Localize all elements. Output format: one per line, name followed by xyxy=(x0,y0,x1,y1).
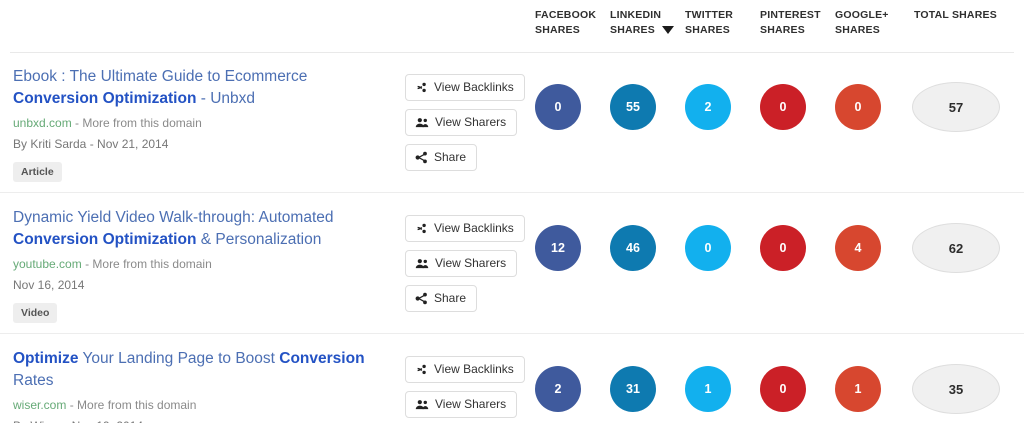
title-keyword: Conversion Optimization xyxy=(13,231,196,248)
column-header-line1: TOTAL SHARES xyxy=(914,8,1020,23)
metric-cell-googleplus: 1 xyxy=(835,366,910,412)
share-button-label: Share xyxy=(434,150,466,165)
users-icon xyxy=(415,257,429,270)
share-nodes-icon xyxy=(415,292,428,305)
metric-cell-total: 57 xyxy=(910,82,1020,132)
users-icon xyxy=(415,257,429,270)
result-actions: View BacklinksView SharersShare xyxy=(405,207,535,312)
share-count-pinterest[interactable]: 0 xyxy=(760,225,806,271)
badge-wrapper: Video xyxy=(13,294,393,323)
column-header-googleplus[interactable]: GOOGLE+SHARES xyxy=(835,8,910,38)
share-count-facebook[interactable]: 12 xyxy=(535,225,581,271)
chain-link-icon xyxy=(415,363,428,376)
view-sharers-button[interactable]: View Sharers xyxy=(405,109,517,136)
share-button[interactable]: Share xyxy=(405,285,477,312)
result-byline: Nov 16, 2014 xyxy=(13,276,393,294)
metric-cell-facebook: 0 xyxy=(535,84,610,130)
column-header-twitter[interactable]: TWITTERSHARES xyxy=(685,8,760,38)
view-sharers-button[interactable]: View Sharers xyxy=(405,391,517,418)
domain-link[interactable]: youtube.com xyxy=(13,257,82,271)
users-icon xyxy=(415,398,429,411)
view-sharers-button-label: View Sharers xyxy=(435,115,506,130)
view-backlinks-button[interactable]: View Backlinks xyxy=(405,74,525,101)
more-from-domain-link[interactable]: - More from this domain xyxy=(85,257,212,271)
result-byline: By Wiser - Nov 19, 2014 xyxy=(13,417,393,423)
share-count-linkedin[interactable]: 31 xyxy=(610,366,656,412)
result-info: Ebook : The Ultimate Guide to Ecommerce … xyxy=(0,66,405,182)
metric-cell-pinterest: 0 xyxy=(760,84,835,130)
column-header-facebook[interactable]: FACEBOOKSHARES xyxy=(535,8,610,38)
column-header-line2: SHARES xyxy=(610,23,685,38)
metric-cell-pinterest: 0 xyxy=(760,225,835,271)
column-header-line1: LINKEDIN xyxy=(610,8,685,23)
result-row: Dynamic Yield Video Walk-through: Automa… xyxy=(0,193,1024,334)
result-row: Optimize Your Landing Page to Boost Conv… xyxy=(0,334,1024,423)
metric-cell-linkedin: 55 xyxy=(610,84,685,130)
metric-column-headers: FACEBOOKSHARESLINKEDINSHARESTWITTERSHARE… xyxy=(535,8,1024,38)
share-count-pinterest[interactable]: 0 xyxy=(760,84,806,130)
more-from-domain-link[interactable]: - More from this domain xyxy=(75,116,202,130)
title-text: Your Landing Page to Boost xyxy=(78,350,279,367)
metric-cell-googleplus: 4 xyxy=(835,225,910,271)
share-count-googleplus[interactable]: 4 xyxy=(835,225,881,271)
view-sharers-button[interactable]: View Sharers xyxy=(405,250,517,277)
view-sharers-button-label: View Sharers xyxy=(435,256,506,271)
domain-link[interactable]: wiser.com xyxy=(13,398,66,412)
result-metrics: 23110135 xyxy=(535,348,1024,414)
column-header-line1: GOOGLE+ xyxy=(835,8,910,23)
metric-cell-total: 35 xyxy=(910,364,1020,414)
users-icon xyxy=(415,116,429,129)
column-header-pinterest[interactable]: PINTERESTSHARES xyxy=(760,8,835,38)
share-button-label: Share xyxy=(434,291,466,306)
title-keyword: Optimize xyxy=(13,350,78,367)
metric-cell-facebook: 12 xyxy=(535,225,610,271)
result-metrics: 124600462 xyxy=(535,207,1024,273)
result-title-link[interactable]: Optimize Your Landing Page to Boost Conv… xyxy=(13,348,393,392)
content-type-badge: Article xyxy=(13,162,62,182)
result-metrics: 05520057 xyxy=(535,66,1024,132)
results-list: Ebook : The Ultimate Guide to Ecommerce … xyxy=(0,52,1024,423)
chain-link-icon xyxy=(415,81,428,94)
title-keyword: Conversion Optimization xyxy=(13,90,196,107)
share-count-twitter[interactable]: 0 xyxy=(685,225,731,271)
column-header-line2: SHARES xyxy=(685,23,760,38)
table-header: FACEBOOKSHARESLINKEDINSHARESTWITTERSHARE… xyxy=(0,0,1024,52)
share-count-facebook[interactable]: 0 xyxy=(535,84,581,130)
chain-link-icon xyxy=(415,363,428,376)
metric-cell-total: 62 xyxy=(910,223,1020,273)
result-domain-line: youtube.com - More from this domain xyxy=(13,255,393,273)
metric-cell-linkedin: 46 xyxy=(610,225,685,271)
column-header-linkedin[interactable]: LINKEDINSHARES xyxy=(610,8,685,38)
title-text: & Personalization xyxy=(196,231,321,248)
column-header-line1: FACEBOOK xyxy=(535,8,610,23)
result-info: Dynamic Yield Video Walk-through: Automa… xyxy=(0,207,405,323)
title-text: Rates xyxy=(13,372,54,389)
result-title-link[interactable]: Dynamic Yield Video Walk-through: Automa… xyxy=(13,207,393,251)
users-icon xyxy=(415,398,429,411)
title-text: Dynamic Yield Video Walk-through: Automa… xyxy=(13,209,334,226)
caret-down-icon[interactable] xyxy=(662,26,674,34)
view-backlinks-button[interactable]: View Backlinks xyxy=(405,215,525,242)
users-icon xyxy=(415,116,429,129)
chain-link-icon xyxy=(415,222,428,235)
share-nodes-icon xyxy=(415,151,428,164)
share-count-linkedin[interactable]: 55 xyxy=(610,84,656,130)
view-backlinks-button-label: View Backlinks xyxy=(434,221,514,236)
share-count-total: 35 xyxy=(912,364,1000,414)
view-backlinks-button-label: View Backlinks xyxy=(434,362,514,377)
column-header-line1: TWITTER xyxy=(685,8,760,23)
view-sharers-button-label: View Sharers xyxy=(435,397,506,412)
column-header-line1: PINTEREST xyxy=(760,8,835,23)
view-backlinks-button-label: View Backlinks xyxy=(434,80,514,95)
chain-link-icon xyxy=(415,222,428,235)
result-domain-line: wiser.com - More from this domain xyxy=(13,396,393,414)
share-nodes-icon xyxy=(415,151,428,164)
metric-cell-facebook: 2 xyxy=(535,366,610,412)
share-count-total: 62 xyxy=(912,223,1000,273)
column-header-line2: SHARES xyxy=(760,23,835,38)
share-count-pinterest[interactable]: 0 xyxy=(760,366,806,412)
result-domain-line: unbxd.com - More from this domain xyxy=(13,114,393,132)
content-type-badge: Video xyxy=(13,303,57,323)
share-count-twitter[interactable]: 2 xyxy=(685,84,731,130)
metric-cell-twitter: 2 xyxy=(685,84,760,130)
view-backlinks-button[interactable]: View Backlinks xyxy=(405,356,525,383)
metric-cell-twitter: 1 xyxy=(685,366,760,412)
metric-cell-twitter: 0 xyxy=(685,225,760,271)
column-header-line2: SHARES xyxy=(535,23,610,38)
result-title-link[interactable]: Ebook : The Ultimate Guide to Ecommerce … xyxy=(13,66,393,110)
title-text: Ebook : The Ultimate Guide to Ecommerce xyxy=(13,68,307,85)
share-count-facebook[interactable]: 2 xyxy=(535,366,581,412)
column-header-total[interactable]: TOTAL SHARES xyxy=(910,8,1020,23)
result-actions: View BacklinksView SharersShare xyxy=(405,66,535,171)
badge-wrapper: Article xyxy=(13,153,393,182)
share-count-linkedin[interactable]: 46 xyxy=(610,225,656,271)
share-button[interactable]: Share xyxy=(405,144,477,171)
share-count-googleplus[interactable]: 1 xyxy=(835,366,881,412)
domain-link[interactable]: unbxd.com xyxy=(13,116,72,130)
result-row: Ebook : The Ultimate Guide to Ecommerce … xyxy=(0,52,1024,193)
metric-cell-linkedin: 31 xyxy=(610,366,685,412)
metric-cell-googleplus: 0 xyxy=(835,84,910,130)
result-info: Optimize Your Landing Page to Boost Conv… xyxy=(0,348,405,423)
chain-link-icon xyxy=(415,81,428,94)
share-metrics-page: FACEBOOKSHARESLINKEDINSHARESTWITTERSHARE… xyxy=(0,0,1024,423)
result-actions: View BacklinksView SharersShare xyxy=(405,348,535,423)
more-from-domain-link[interactable]: - More from this domain xyxy=(70,398,197,412)
title-keyword: Conversion xyxy=(279,350,364,367)
share-count-googleplus[interactable]: 0 xyxy=(835,84,881,130)
column-header-line2: SHARES xyxy=(835,23,910,38)
header-divider xyxy=(10,52,1014,53)
result-byline: By Kriti Sarda - Nov 21, 2014 xyxy=(13,135,393,153)
title-text: - Unbxd xyxy=(196,90,255,107)
share-count-twitter[interactable]: 1 xyxy=(685,366,731,412)
metric-cell-pinterest: 0 xyxy=(760,366,835,412)
share-count-total: 57 xyxy=(912,82,1000,132)
share-nodes-icon xyxy=(415,292,428,305)
